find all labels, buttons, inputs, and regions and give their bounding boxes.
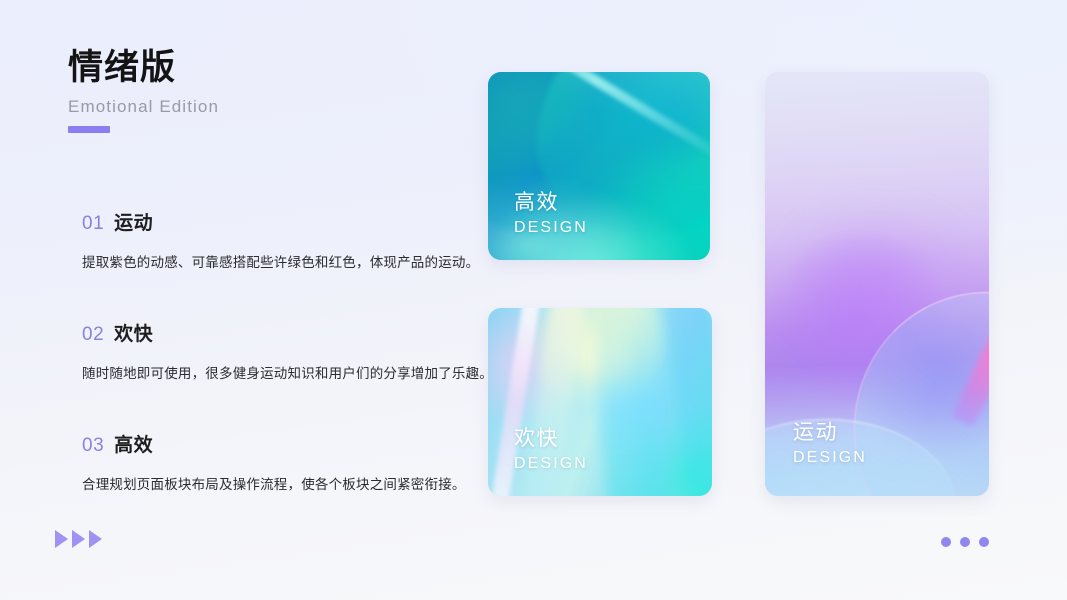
point-description: 随时随地即可使用，很多健身运动知识和用户们的分享增加了乐趣。 (82, 363, 482, 384)
page-title: 情绪版 (68, 46, 219, 90)
point-heading: 03 高效 (82, 430, 482, 457)
points-list: 01 运动 提取紫色的动感、可靠感搭配些许绿色和红色，体现产品的运动。 02 欢… (82, 208, 482, 495)
point-heading: 01 运动 (82, 208, 482, 235)
point-title: 欢快 (114, 319, 153, 346)
list-item: 03 高效 合理规划页面板块布局及操作流程，使各个板块之间紧密衔接。 (82, 430, 482, 495)
list-item: 02 欢快 随时随地即可使用，很多健身运动知识和用户们的分享增加了乐趣。 (82, 319, 482, 384)
list-item: 01 运动 提取紫色的动感、可靠感搭配些许绿色和红色，体现产品的运动。 (82, 208, 482, 273)
header-block: 情绪版 Emotional Edition (68, 46, 219, 133)
dot-icon (979, 537, 989, 547)
three-dots-icon (941, 537, 989, 547)
mood-card-efficient: 高效 DESIGN (488, 72, 710, 260)
play-arrow-icon (89, 530, 102, 548)
point-number: 01 (82, 213, 104, 235)
page-subtitle: Emotional Edition (68, 96, 219, 118)
slide-canvas: 情绪版 Emotional Edition 01 运动 提取紫色的动感、可靠感搭… (0, 0, 1067, 600)
point-number: 02 (82, 324, 104, 346)
mood-card-joyful: 欢快 DESIGN (488, 308, 712, 496)
point-heading: 02 欢快 (82, 319, 482, 346)
gradient-band-shape (588, 308, 670, 496)
mood-card-sport: 运动 DESIGN (765, 72, 989, 496)
gradient-band-shape (663, 308, 712, 496)
point-title: 高效 (114, 430, 153, 457)
point-number: 03 (82, 435, 104, 457)
play-arrow-icon (55, 530, 68, 548)
point-title: 运动 (114, 208, 153, 235)
point-description: 合理规划页面板块布局及操作流程，使各个板块之间紧密衔接。 (82, 474, 482, 495)
triple-play-arrow-icon (55, 530, 102, 548)
point-description: 提取紫色的动感、可靠感搭配些许绿色和红色，体现产品的运动。 (82, 252, 482, 273)
play-arrow-icon (72, 530, 85, 548)
dot-icon (941, 537, 951, 547)
title-underline-bar (68, 126, 110, 133)
dot-icon (960, 537, 970, 547)
